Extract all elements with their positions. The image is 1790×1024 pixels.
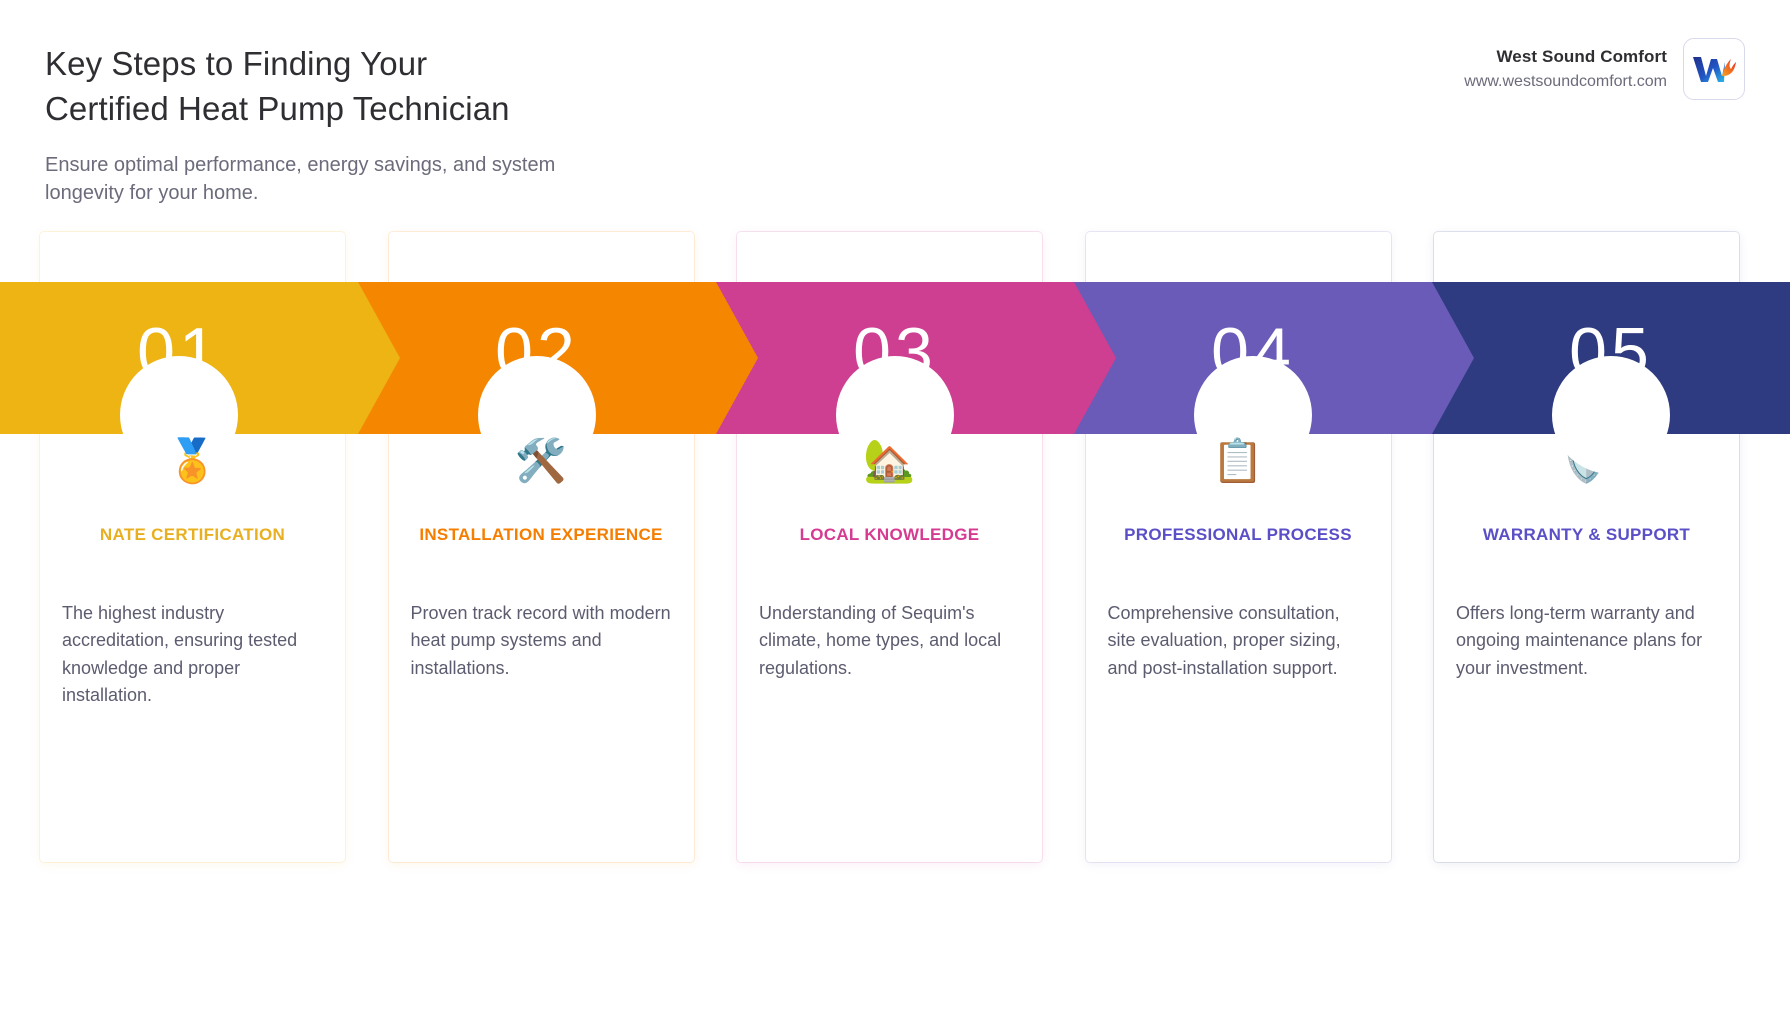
- step-card-02[interactable]: 🛠️INSTALLATION EXPERIENCEProven track re…: [389, 232, 694, 862]
- page-subtitle-line-2: longevity for your home.: [45, 179, 645, 207]
- page-title-line-2: Certified Heat Pump Technician: [45, 87, 865, 132]
- title-block: Key Steps to Finding Your Certified Heat…: [45, 42, 865, 208]
- house-with-garden-icon: 🏡: [737, 440, 1042, 482]
- page-subtitle: Ensure optimal performance, energy savin…: [45, 151, 645, 208]
- page-subtitle-line-1: Ensure optimal performance, energy savin…: [45, 151, 645, 179]
- brand-text: West Sound Comfort www.westsoundcomfort.…: [1464, 47, 1667, 91]
- shield-icon: 🛡️: [1434, 440, 1739, 482]
- step-body: Proven track record with modern heat pum…: [411, 600, 672, 682]
- step-body: The highest industry accreditation, ensu…: [62, 600, 323, 709]
- step-card-inner: 🛠️INSTALLATION EXPERIENCEProven track re…: [389, 232, 694, 862]
- step-card-inner: 🏅NATE CERTIFICATIONThe highest industry …: [40, 232, 345, 862]
- brand-block: West Sound Comfort www.westsoundcomfort.…: [1464, 38, 1745, 100]
- infographic-page: Key Steps to Finding Your Certified Heat…: [0, 0, 1790, 1024]
- step-body: Comprehensive consultation, site evaluat…: [1108, 600, 1369, 682]
- step-card-05[interactable]: 🛡️WARRANTY & SUPPORTOffers long-term war…: [1434, 232, 1739, 862]
- step-title: INSTALLATION EXPERIENCE: [411, 522, 672, 548]
- step-card-inner: 📋PROFESSIONAL PROCESSComprehensive consu…: [1086, 232, 1391, 862]
- brand-logo[interactable]: [1683, 38, 1745, 100]
- header: Key Steps to Finding Your Certified Heat…: [0, 0, 1790, 230]
- step-card-01[interactable]: 🏅NATE CERTIFICATIONThe highest industry …: [40, 232, 345, 862]
- w-flame-logo-icon: [1691, 52, 1737, 86]
- step-title: LOCAL KNOWLEDGE: [759, 522, 1020, 548]
- step-card-04[interactable]: 📋PROFESSIONAL PROCESSComprehensive consu…: [1086, 232, 1391, 862]
- step-body: Understanding of Sequim's climate, home …: [759, 600, 1020, 682]
- page-title: Key Steps to Finding Your Certified Heat…: [45, 42, 865, 132]
- step-title: NATE CERTIFICATION: [62, 522, 323, 548]
- step-card-inner: 🛡️WARRANTY & SUPPORTOffers long-term war…: [1434, 232, 1739, 862]
- page-title-line-1: Key Steps to Finding Your: [45, 42, 865, 87]
- hammer-and-wrench-icon: 🛠️: [389, 440, 694, 482]
- steps-card-row: 🏅NATE CERTIFICATIONThe highest industry …: [0, 232, 1790, 862]
- brand-name: West Sound Comfort: [1464, 47, 1667, 67]
- step-title: WARRANTY & SUPPORT: [1456, 522, 1717, 548]
- step-card-03[interactable]: 🏡LOCAL KNOWLEDGEUnderstanding of Sequim'…: [737, 232, 1042, 862]
- step-title: PROFESSIONAL PROCESS: [1108, 522, 1369, 548]
- step-body: Offers long-term warranty and ongoing ma…: [1456, 600, 1717, 682]
- medal-icon: 🏅: [40, 440, 345, 482]
- brand-url[interactable]: www.westsoundcomfort.com: [1464, 73, 1667, 91]
- clipboard-icon: 📋: [1086, 440, 1391, 482]
- step-card-inner: 🏡LOCAL KNOWLEDGEUnderstanding of Sequim'…: [737, 232, 1042, 862]
